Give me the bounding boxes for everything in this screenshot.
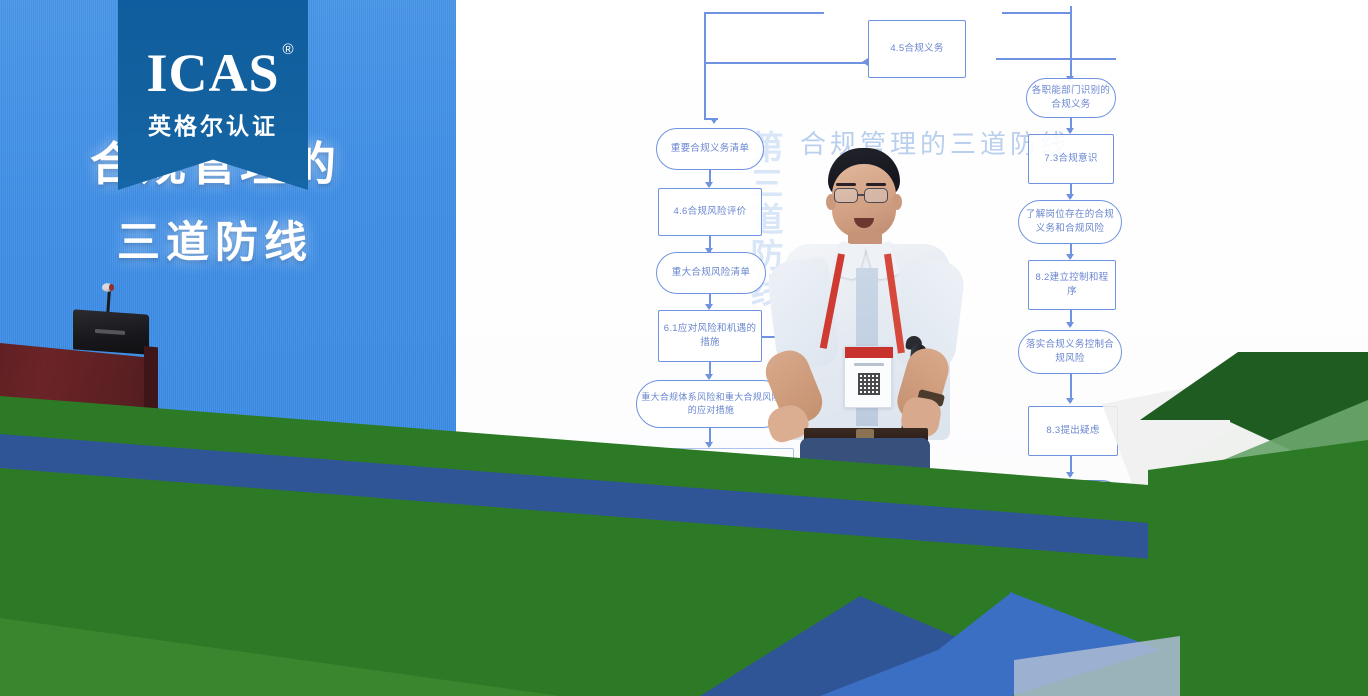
- flow-node: 4.6合规风险评价: [658, 188, 762, 236]
- speaker-brow-right: [866, 183, 886, 186]
- flow-arrow-icon: [1066, 536, 1074, 542]
- flow-node: 8.3提出疑虑: [1028, 406, 1118, 456]
- flow-connector: [996, 58, 1116, 60]
- trouser-fold-right: [900, 508, 914, 668]
- speaker-brow-left: [836, 183, 856, 186]
- flow-node: 疑似不合规: [1022, 480, 1122, 520]
- trouser-leg-gap: [856, 520, 873, 670]
- icas-wordmark-text: ICAS: [146, 43, 279, 103]
- qr-code-icon: [858, 373, 880, 395]
- light-green-sliver: [0, 618, 560, 696]
- wall-title-line2: 三道防线: [0, 208, 430, 270]
- flow-node: 4.5合规义务: [868, 20, 966, 78]
- conference-badge: [844, 346, 892, 408]
- flow-node: 8.2建立控制和程序: [1028, 260, 1116, 310]
- badge-name-line: [854, 363, 884, 366]
- eyeglasses-lens-left: [834, 188, 858, 203]
- flow-arrow-icon: [705, 540, 713, 546]
- flow-arrow-icon: [710, 118, 718, 124]
- blue-chevron-right: [1010, 592, 1160, 696]
- audience-head: [1180, 636, 1250, 696]
- badge-header-bar: [845, 347, 893, 358]
- eyeglasses-lens-right: [864, 188, 888, 203]
- flow-connector: [704, 12, 706, 64]
- speaker: [760, 148, 990, 628]
- conference-stage-photo: 合规管理的 三道防线 ICAS ® 英格尔认证 第三道防线 合规管理的三道防线 …: [0, 0, 1368, 696]
- flow-arrow-icon: [1066, 472, 1074, 478]
- trouser-fold-left: [812, 508, 826, 668]
- flow-connector: [704, 12, 824, 14]
- flow-arrow-icon: [1066, 322, 1074, 328]
- podium-monitor: [73, 309, 149, 354]
- flow-connector: [1002, 12, 1072, 14]
- flow-node: 落实合规义务控制合规风险: [1018, 330, 1122, 374]
- audience-head: [634, 540, 694, 602]
- flow-node: 6.1应对风险和机遇的措施: [658, 310, 762, 362]
- monitor-strip: [95, 329, 125, 335]
- microphone-icon: [102, 283, 113, 292]
- flow-node: 7.3合规意识: [1028, 134, 1114, 184]
- flow-node: 重要合规义务清单: [656, 128, 764, 170]
- logo-content: ICAS ® 英格尔认证: [118, 46, 308, 141]
- flow-node: 了解岗位存在的合规义务和合规风险: [1018, 200, 1122, 244]
- flow-arrow-icon: [1066, 398, 1074, 404]
- registered-trademark-icon: ®: [282, 42, 294, 57]
- flow-node: 重大合规风险清单: [656, 252, 766, 294]
- eyeglasses-bridge: [858, 194, 864, 196]
- speaker-ear-right: [892, 194, 902, 210]
- pale-blue-panel: [1014, 636, 1180, 696]
- podium-body: [0, 342, 158, 478]
- audience-head: [996, 542, 1058, 606]
- flow-connector: [704, 62, 706, 120]
- audience-head: [452, 464, 482, 490]
- flow-node: 重要合规义务风险得到控制: [654, 486, 774, 530]
- flow-connector: [1070, 6, 1072, 60]
- flow-connector: [704, 62, 868, 64]
- audience-head: [742, 562, 808, 628]
- icas-wordmark: ICAS ®: [146, 46, 279, 100]
- flow-node: 各职能部门识别的合规义务: [1026, 78, 1116, 118]
- podium-side-edge: [144, 346, 158, 459]
- icas-chinese-name: 英格尔认证: [118, 107, 308, 141]
